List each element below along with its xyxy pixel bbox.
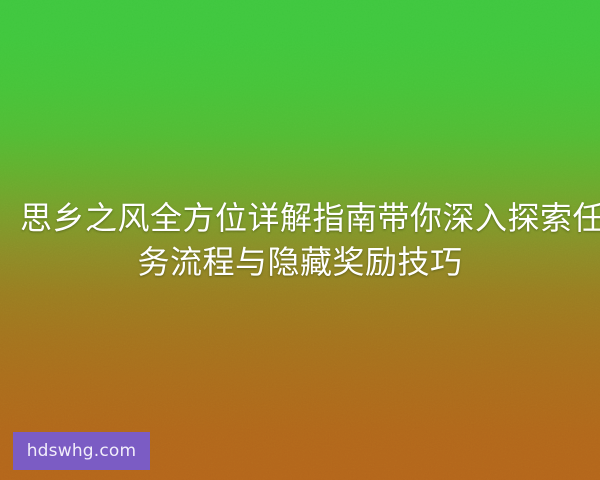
image-canvas: 思乡之风全方位详解指南带你深入探索任 务流程与隐藏奖励技巧 hdswhg.com <box>0 0 600 480</box>
page-title: 思乡之风全方位详解指南带你深入探索任 务流程与隐藏奖励技巧 <box>0 196 600 284</box>
title-line-2: 务流程与隐藏奖励技巧 <box>20 240 580 284</box>
title-line-1: 思乡之风全方位详解指南带你深入探索任 <box>20 196 580 240</box>
watermark-label: hdswhg.com <box>27 443 137 460</box>
watermark-badge: hdswhg.com <box>13 432 150 470</box>
